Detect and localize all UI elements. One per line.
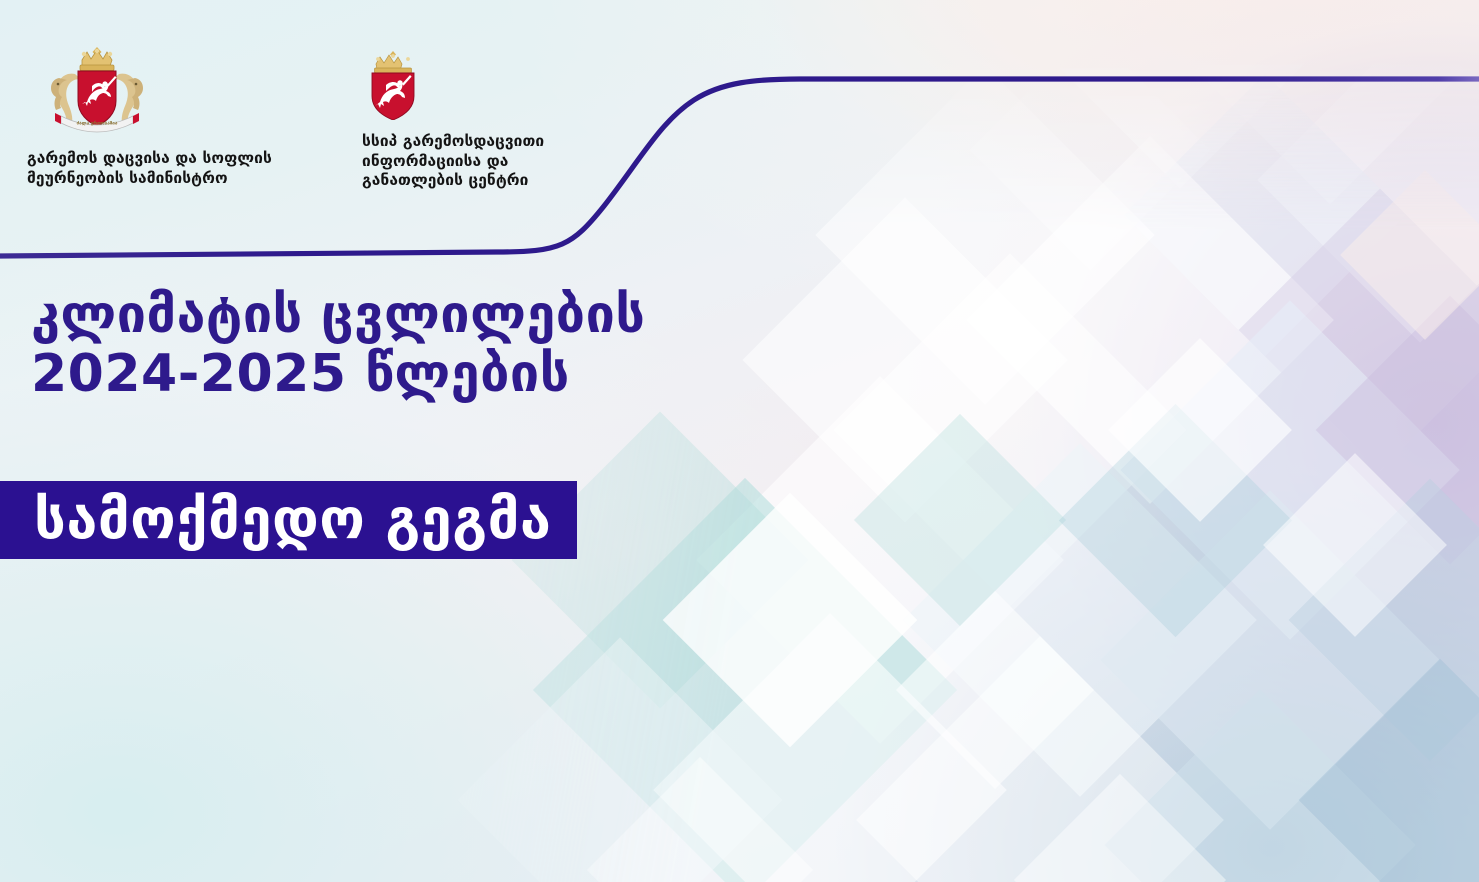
logo-ministry: ძალა ერთობაშია გარემოს დაცვისა და სოფლის… bbox=[27, 40, 327, 188]
georgia-shield-crown-icon bbox=[362, 48, 617, 124]
subtitle-banner: სამოქმედო გეგმა bbox=[0, 481, 577, 559]
title-line-1: კლიმატის ცვლილების bbox=[31, 286, 931, 345]
subtitle-banner-text: სამოქმედო გეგმა bbox=[34, 492, 551, 548]
report-cover: ძალა ერთობაშია გარემოს დაცვისა და სოფლის… bbox=[0, 0, 1479, 882]
header-logos: ძალა ერთობაშია გარემოს დაცვისა და სოფლის… bbox=[0, 0, 720, 230]
page-title: კლიმატის ცვლილების 2024-2025 წლების bbox=[31, 286, 931, 404]
logo-centre: სსიპ გარემოსდაცვითი ინფორმაციისა და განა… bbox=[362, 48, 617, 191]
svg-text:ძალა ერთობაშია: ძალა ერთობაშია bbox=[77, 120, 118, 127]
title-line-2: 2024-2025 წლების bbox=[31, 345, 931, 404]
logo-centre-caption: სსიპ გარემოსდაცვითი ინფორმაციისა და განა… bbox=[362, 132, 617, 191]
logo-ministry-caption: გარემოს დაცვისა და სოფლის მეურნეობის სამ… bbox=[27, 149, 327, 188]
georgia-coat-of-arms-full-icon: ძალა ერთობაშია bbox=[37, 40, 327, 140]
